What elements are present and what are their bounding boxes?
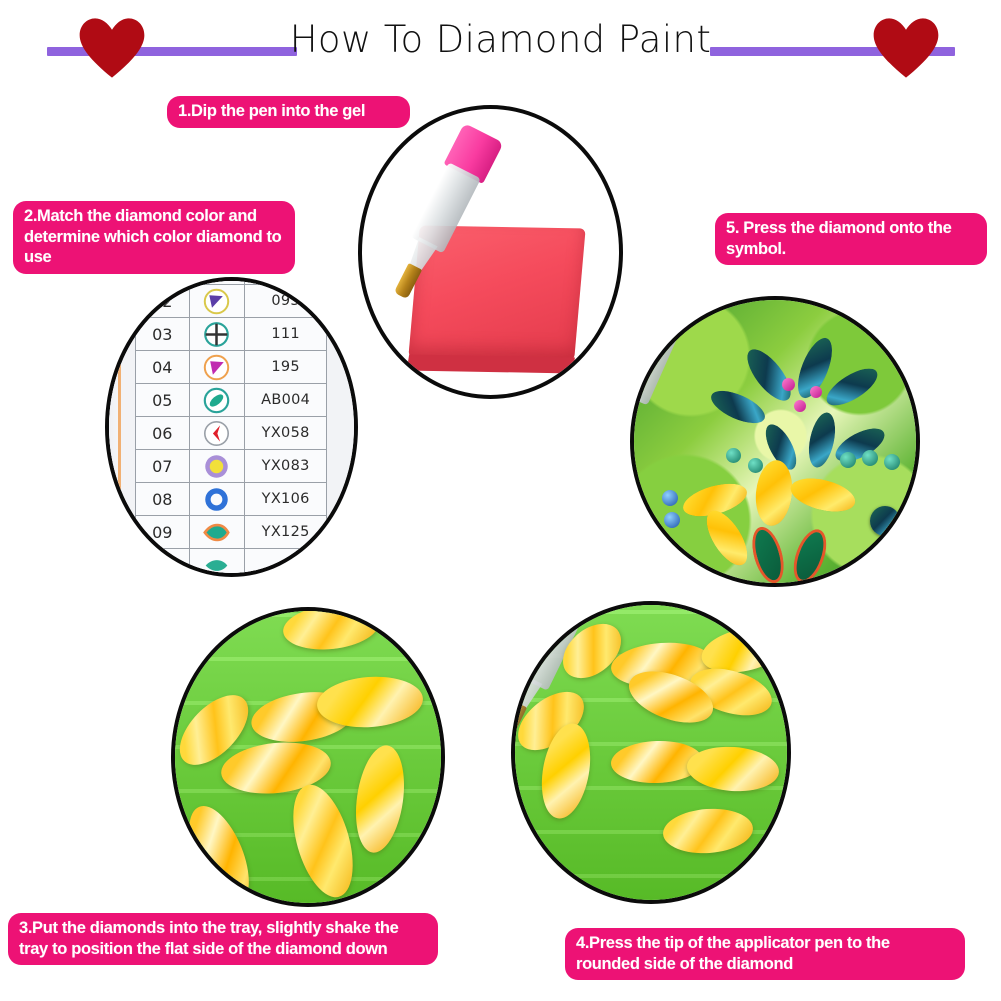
pen-dipping-photo <box>362 109 619 395</box>
chart-row-number: 06 <box>136 417 190 450</box>
chart-row-number: 09 <box>136 516 190 549</box>
gem <box>707 384 770 430</box>
gem <box>810 386 822 398</box>
chart-row-symbol-teal-shape <box>189 549 245 578</box>
step-5-photo-bubble <box>630 296 920 587</box>
step-4-photo-bubble <box>511 601 791 904</box>
chart-row: 07YX083 <box>136 450 327 483</box>
chart-row-code: YX058 <box>245 417 327 450</box>
diamond <box>662 806 755 856</box>
diamond-tray-photo <box>175 611 441 903</box>
step-2-photo-bubble: 0102802093031110419505AB00406YX05807YX08… <box>105 277 358 577</box>
gem <box>740 343 799 408</box>
chart-stripe <box>118 277 121 577</box>
diamond <box>282 778 364 904</box>
chart-row-number: 08 <box>136 483 190 516</box>
chart-row-code: YX125 <box>245 516 327 549</box>
chart-row-code: YX106 <box>245 483 327 516</box>
chart-row-symbol-blue-open-ring <box>189 483 245 516</box>
chart-row: 03111 <box>136 318 327 351</box>
gem <box>662 490 678 506</box>
gem <box>782 378 795 391</box>
step-1-photo-bubble <box>358 105 623 399</box>
chart-row-code: 111 <box>245 318 327 351</box>
chart-row-symbol-teal-slash-oval-circle <box>189 384 245 417</box>
gem-yellow <box>787 472 858 517</box>
step-3-label: 3.Put the diamonds into the tray, slight… <box>8 913 438 965</box>
chart-row: 01028 <box>136 277 327 285</box>
diamond <box>281 607 381 654</box>
chart-paper: 0102802093031110419505AB00406YX05807YX08… <box>105 277 358 577</box>
gem <box>870 506 900 536</box>
chart-row-code: 093 <box>245 285 327 318</box>
page-header: How To Diamond Paint <box>0 0 1001 82</box>
chart-row-symbol-two-blue-dots-circle <box>189 277 245 285</box>
chart-row: 05AB004 <box>136 384 327 417</box>
step-3-photo-bubble <box>171 607 445 907</box>
gem <box>840 452 856 468</box>
gem <box>794 400 806 412</box>
gem <box>821 361 883 412</box>
gem <box>884 454 900 470</box>
diamond <box>177 798 261 907</box>
chart-row-number: 02 <box>136 285 190 318</box>
chart-row-number: 05 <box>136 384 190 417</box>
chart-row-symbol-red-left-chevron-circle <box>189 417 245 450</box>
gem <box>748 458 763 473</box>
chart-row: 06YX058 <box>136 417 327 450</box>
chart-row-number: 07 <box>136 450 190 483</box>
pen-body <box>630 303 686 405</box>
mandala-canvas-photo <box>634 300 916 583</box>
gem <box>804 410 839 470</box>
chart-row-number: 04 <box>136 351 190 384</box>
page-title: How To Diamond Paint <box>0 14 1001 66</box>
chart-row-code: 195 <box>245 351 327 384</box>
applicator-pen <box>630 300 692 467</box>
step-5-label: 5. Press the diamond onto the symbol. <box>715 213 987 265</box>
chart-row-symbol-plus-cross-circle <box>189 318 245 351</box>
gem <box>862 450 878 466</box>
chart-row: 10 <box>136 549 327 578</box>
chart-row: 08YX106 <box>136 483 327 516</box>
chart-row-code: 028 <box>245 277 327 285</box>
gem <box>726 448 741 463</box>
pen-picking-diamond-photo <box>515 605 787 900</box>
chart-row-symbol-purple-triangle-circle <box>189 285 245 318</box>
chart-row-code: YX083 <box>245 450 327 483</box>
diamond <box>686 744 781 794</box>
chart-row: 04195 <box>136 351 327 384</box>
chart-row-code <box>245 549 327 578</box>
gem <box>747 523 790 586</box>
step-4-label: 4.Press the tip of the applicator pen to… <box>565 928 965 980</box>
diamond <box>350 742 411 855</box>
chart-row-code: AB004 <box>245 384 327 417</box>
chart-row-number: 01 <box>136 277 190 285</box>
step-2-label: 2.Match the diamond color and determine … <box>13 201 295 274</box>
chart-row: 09YX125 <box>136 516 327 549</box>
pen-tip <box>394 263 422 299</box>
gem <box>664 512 680 528</box>
chart-row-symbol-yellow-filled-purple-ring <box>189 450 245 483</box>
gem <box>787 525 832 587</box>
chart-row-symbol-magenta-triangle-circle <box>189 351 245 384</box>
chart-row-symbol-teal-leaf-orange-outline <box>189 516 245 549</box>
chart-row: 02093 <box>136 285 327 318</box>
chart-row-number: 10 <box>136 549 190 578</box>
chart-row-number: 03 <box>136 318 190 351</box>
symbol-chart-photo: 0102802093031110419505AB00406YX05807YX08… <box>109 281 354 573</box>
diamond-symbol-chart: 0102802093031110419505AB00406YX05807YX08… <box>135 277 327 577</box>
